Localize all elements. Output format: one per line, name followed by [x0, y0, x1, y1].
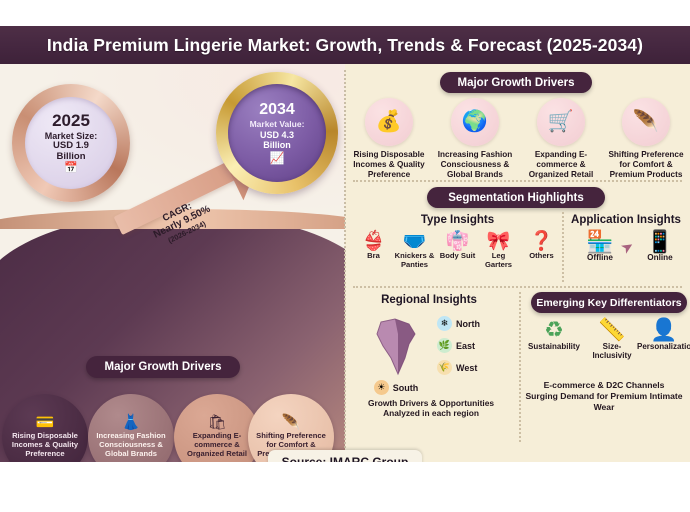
target-year: 2034 — [259, 102, 295, 118]
target-value: USD 4.3 — [260, 130, 294, 140]
differentiator-label: Sustainability — [527, 342, 581, 351]
hand-money-card-icon: 💰 — [365, 98, 413, 146]
differentiator-item: 👤 Personalization — [637, 318, 690, 351]
base-unit: Billion — [56, 152, 85, 163]
differentiator-label: Size-Inclusivity — [585, 342, 639, 360]
bra-icon: 👙 — [353, 232, 394, 252]
laptop-cart-store-icon: 🛍 — [207, 415, 226, 430]
region-label: South — [393, 383, 419, 393]
lingerie-feather-icon: 🪶 — [622, 98, 670, 146]
infographic-title-bar: India Premium Lingerie Market: Growth, T… — [0, 26, 690, 64]
sand-icon: 🌾 — [437, 360, 452, 375]
region-label: North — [456, 319, 480, 329]
type-insight-label: Others — [521, 252, 562, 261]
market-size-2025-circle: 2025 Market Size: USD 1.9 Billion 📅 — [12, 84, 130, 202]
india-map-shape — [365, 314, 431, 380]
bottom-sections: Regional Insights ❄ North 🌿 East 🌾 — [345, 288, 690, 460]
growth-driver-label: Rising Disposable Incomes & Quality Pref… — [347, 150, 431, 180]
regional-insights-heading: Regional Insights — [349, 294, 509, 306]
growth-drivers-heading: Major Growth Drivers — [440, 72, 592, 93]
type-insight-item: 👙 Bra — [353, 232, 394, 261]
recycle-icon: ♻ — [527, 318, 581, 342]
segmentation-divider — [562, 212, 564, 282]
differentiators-note-line1: E-commerce & D2C Channels — [521, 380, 687, 391]
person-gear-icon: 👤 — [637, 318, 690, 342]
laptop-cart-store-icon: 🛒 — [537, 98, 585, 146]
differentiators-heading: Emerging Key Differentiators — [531, 292, 687, 313]
left-driver-label: Increasing Fashion Consciousness & Globa… — [91, 432, 171, 459]
calendar-icon: 📅 — [64, 163, 78, 174]
differentiator-item: 📏 Size-Inclusivity — [585, 318, 639, 361]
regional-note-line2: Analyzed in each region — [345, 408, 517, 418]
dress-globe-icon: 👗 — [122, 415, 141, 430]
growth-driver-label: Shifting Preference for Comfort & Premiu… — [604, 150, 688, 180]
type-insight-item: ❓ Others — [521, 232, 562, 261]
type-insights-heading: Type Insights — [355, 214, 560, 226]
market-size-2025-inner: 2025 Market Size: USD 1.9 Billion 📅 — [25, 97, 117, 189]
growth-driver-label: Increasing Fashion Consciousness & Globa… — [433, 150, 517, 180]
application-insight-item: 📱 Online — [633, 230, 687, 262]
garter-icon: 🎀 — [478, 232, 519, 252]
infographic-stage: India Premium Lingerie Market: Growth, T… — [0, 0, 690, 512]
panel-divider — [344, 70, 346, 456]
page-title: India Premium Lingerie Market: Growth, T… — [47, 35, 643, 56]
lingerie-feather-icon: 🪶 — [282, 415, 301, 430]
region-north: ❄ North — [437, 316, 515, 331]
type-insight-label: Knickers & Panties — [394, 252, 435, 269]
application-insight-label: Offline — [573, 253, 627, 262]
growth-chart-icon: 📈 — [270, 152, 285, 164]
measuring-tape-icon: 📏 — [585, 318, 639, 342]
left-driver-label: Expanding E-commerce & Organized Retail — [177, 432, 257, 459]
type-insight-item: 👘 Body Suit — [437, 232, 478, 261]
regional-note: Growth Drivers & Opportunities Analyzed … — [345, 398, 517, 419]
differentiators-note-line2: Surging Demand for Premium Intimate Wear — [521, 391, 687, 413]
base-year: 2025 — [52, 112, 90, 129]
type-insight-label: Bra — [353, 252, 394, 261]
region-west: 🌾 West — [437, 360, 515, 375]
leaf-icon: 🌿 — [437, 338, 452, 353]
differentiator-item: ♻ Sustainability — [527, 318, 581, 351]
growth-driver-item: 🪶 Shifting Preference for Comfort & Prem… — [604, 98, 688, 180]
sun-icon: ☀ — [374, 380, 389, 395]
others-icon: ❓ — [521, 232, 562, 252]
snowflake-icon: ❄ — [437, 316, 452, 331]
bodysuit-icon: 👘 — [437, 232, 478, 252]
segmentation-heading: Segmentation Highlights — [427, 187, 605, 208]
source-badge: Source: IMARC Group — [268, 450, 422, 462]
type-insight-item: 🩲 Knickers & Panties — [394, 232, 435, 269]
left-panel: 2025 Market Size: USD 1.9 Billion 📅 CAGR… — [0, 64, 345, 462]
hand-money-card-icon: 💳 — [36, 415, 55, 430]
type-insight-item: 🎀 Leg Garters — [478, 232, 519, 269]
growth-driver-item: 🌍 Increasing Fashion Consciousness & Glo… — [433, 98, 517, 180]
bottom-divider — [519, 292, 521, 442]
growth-drivers-section: Major Growth Drivers 💰 Rising Disposable… — [345, 66, 690, 182]
source-label: Source: IMARC Group — [282, 455, 409, 462]
region-label: West — [456, 363, 477, 373]
panties-icon: 🩲 — [394, 232, 435, 252]
differentiators-note: E-commerce & D2C Channels Surging Demand… — [521, 380, 687, 414]
segmentation-section: Segmentation Highlights Type Insights Ap… — [345, 182, 690, 288]
base-value: USD 1.9 — [53, 141, 89, 152]
application-insights-heading: Application Insights — [567, 214, 685, 226]
infographic-frame: India Premium Lingerie Market: Growth, T… — [0, 26, 690, 462]
growth-driver-item: 🛒 Expanding E-commerce & Organized Retai… — [519, 98, 603, 180]
region-east: 🌿 East — [437, 338, 515, 353]
target-label: Market Value: — [250, 120, 305, 130]
region-label: East — [456, 341, 475, 351]
mobile-shopping-icon: 📱 — [633, 230, 687, 253]
regional-note-line1: Growth Drivers & Opportunities — [345, 398, 517, 408]
type-insight-label: Leg Garters — [478, 252, 519, 269]
target-unit: Billion — [263, 140, 291, 150]
application-insight-label: Online — [633, 253, 687, 262]
right-panel: Major Growth Drivers 💰 Rising Disposable… — [345, 64, 690, 462]
dress-globe-icon: 🌍 — [451, 98, 499, 146]
type-insight-label: Body Suit — [437, 252, 478, 261]
left-driver-label: Rising Disposable Incomes & Quality Pref… — [5, 432, 85, 459]
growth-driver-label: Expanding E-commerce & Organized Retail — [519, 150, 603, 180]
differentiator-label: Personalization — [637, 342, 690, 351]
growth-driver-item: 💰 Rising Disposable Incomes & Quality Pr… — [347, 98, 431, 180]
india-map-icon — [365, 314, 431, 380]
market-value-2034-inner: 2034 Market Value: USD 4.3 Billion 📈 — [228, 84, 326, 182]
market-value-2034-circle: 2034 Market Value: USD 4.3 Billion 📈 — [216, 72, 338, 194]
left-growth-drivers-heading: Major Growth Drivers — [86, 356, 240, 378]
region-south: ☀ South — [361, 380, 431, 395]
